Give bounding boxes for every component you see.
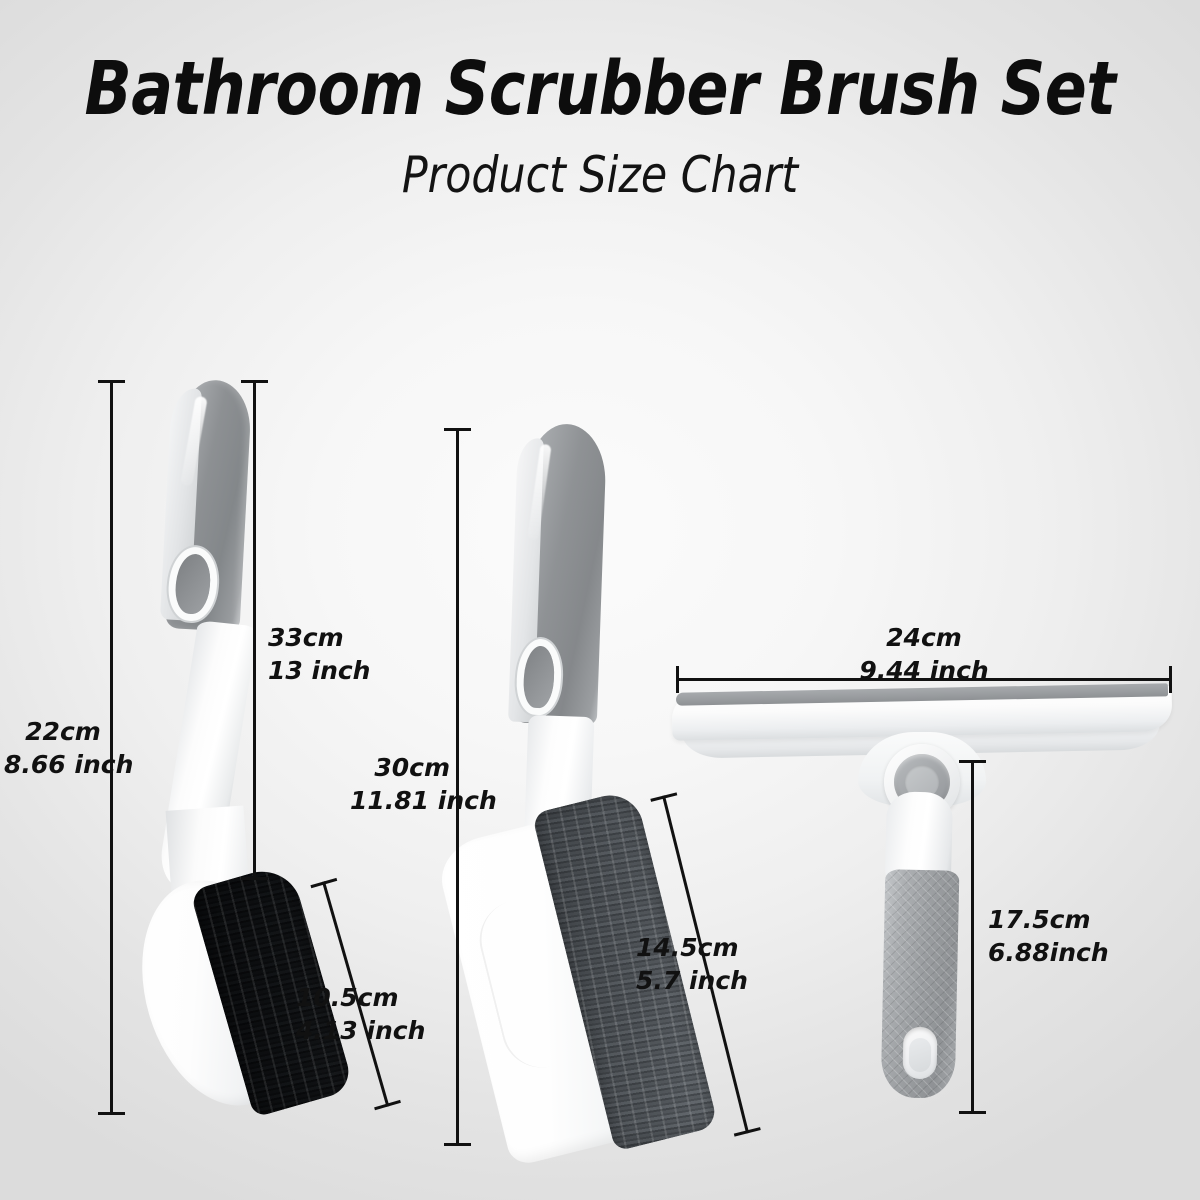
dimension-value-cm: 17.5cm (988, 904, 1138, 937)
dimension-value-cm: 30cm (350, 752, 450, 785)
dimension-value-cm: 24cm (824, 622, 1024, 655)
dimension-line-p3-height (971, 760, 974, 1114)
squeegee-hang-hole-inner (909, 1038, 932, 1072)
dimension-value-inch: 6.88inch (988, 937, 1138, 970)
dimension-value-inch: 13 inch (268, 655, 392, 688)
dimension-line-p1-handle-length (253, 380, 256, 880)
dimension-value-cm: 33cm (268, 622, 392, 655)
dimension-label-p1-handle-length: 33cm 13 inch (268, 622, 392, 687)
dimension-value-inch: 4.13 inch (296, 1015, 436, 1048)
dimension-label-p2-total-length: 30cm 11.81 inch (350, 752, 450, 817)
dimension-value-cm: 10.5cm (296, 982, 436, 1015)
dimension-value-cm: 22cm (4, 716, 122, 749)
dimension-label-p1-head-length: 10.5cm 4.13 inch (296, 982, 436, 1047)
squeegee-stem (885, 791, 953, 881)
page-subtitle: Product Size Chart (30, 150, 1170, 200)
page-title: Bathroom Scrubber Brush Set (42, 52, 1158, 126)
dimension-label-p3-height: 17.5cm 6.88inch (988, 904, 1138, 969)
dimension-value-inch: 9.44 inch (824, 655, 1024, 688)
dimension-value-inch: 11.81 inch (350, 785, 450, 818)
dimension-label-p1-total-length: 22cm 8.66 inch (4, 716, 122, 781)
size-chart-page: Bathroom Scrubber Brush Set Product Size… (0, 0, 1200, 1200)
dimension-label-p3-blade-width: 24cm 9.44 inch (824, 622, 1024, 687)
product-window-squeegee (672, 682, 1180, 1122)
dimension-value-inch: 8.66 inch (4, 749, 122, 782)
header-block: Bathroom Scrubber Brush Set Product Size… (0, 52, 1200, 200)
